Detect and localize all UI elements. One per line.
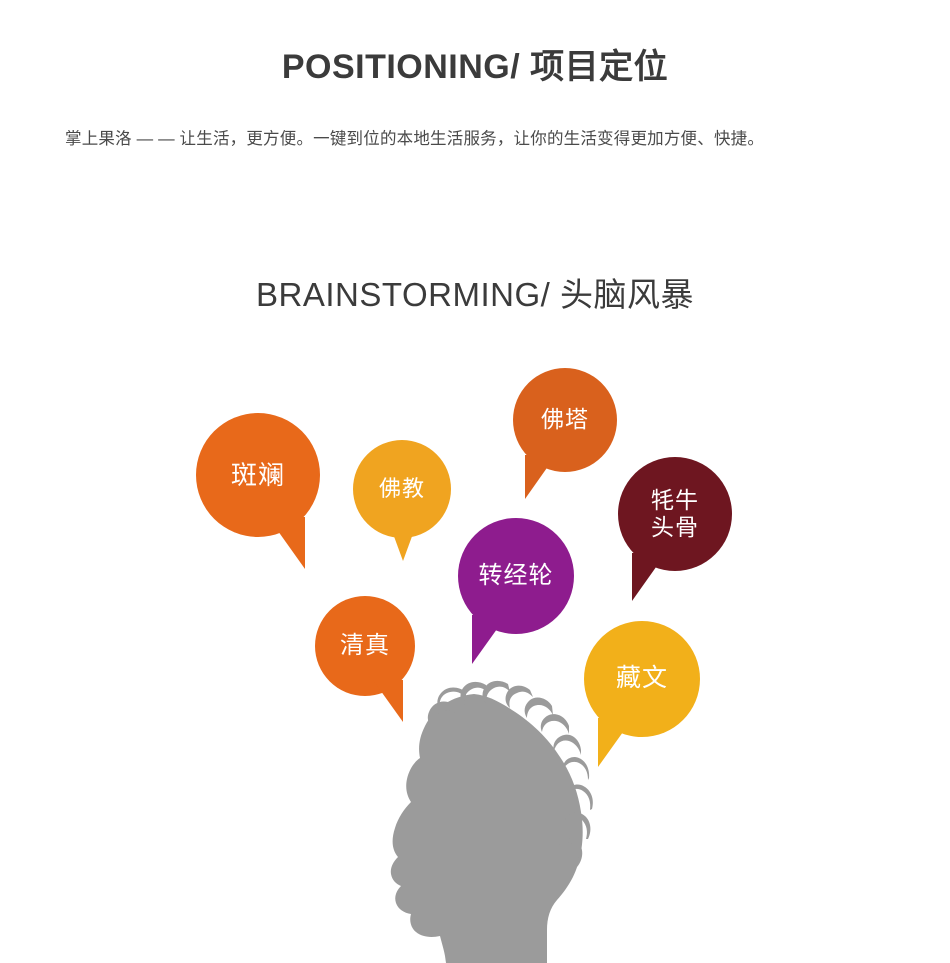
page-root: POSITIONING/ 项目定位 掌上果洛 — — 让生活，更方便。一键到位的… bbox=[0, 0, 950, 960]
speech-bubble-banlan[interactable]: 斑斓 bbox=[196, 413, 320, 537]
speech-bubble-label: 清真 bbox=[340, 632, 390, 660]
speech-bubble-qingzhen[interactable]: 清真 bbox=[315, 596, 415, 696]
speech-bubble-label: 转经轮 bbox=[479, 562, 554, 590]
speech-bubble-tail-icon bbox=[373, 680, 403, 722]
speech-bubble-tail-icon bbox=[525, 455, 556, 499]
positioning-body-text: 掌上果洛 — — 让生活，更方便。一键到位的本地生活服务，让你的生活变得更加方便… bbox=[65, 121, 887, 158]
brainstorm-canvas: 斑斓佛教佛塔牦牛 头骨转经轮清真藏文 bbox=[0, 330, 950, 960]
head-silhouette bbox=[378, 678, 598, 963]
speech-bubble-tail-icon bbox=[472, 615, 507, 664]
speech-bubble-zhuanjinglun[interactable]: 转经轮 bbox=[458, 518, 574, 634]
speech-bubble-label: 藏文 bbox=[616, 664, 668, 694]
speech-bubble-zangwen[interactable]: 藏文 bbox=[584, 621, 700, 737]
speech-bubble-tail-icon bbox=[598, 718, 633, 767]
speech-bubble-label: 佛教 bbox=[379, 476, 425, 502]
speech-bubble-fojiao[interactable]: 佛教 bbox=[353, 440, 451, 538]
brainstorming-heading: BRAINSTORMING/ 头脑风暴 bbox=[0, 268, 950, 316]
speech-bubble-label: 牦牛 头骨 bbox=[651, 487, 699, 541]
speech-bubble-tail-icon bbox=[632, 553, 666, 601]
speech-bubble-tail-icon bbox=[268, 517, 305, 569]
speech-bubble-tail-icon bbox=[388, 520, 418, 561]
speech-bubble-futa[interactable]: 佛塔 bbox=[513, 368, 617, 472]
speech-bubble-label: 佛塔 bbox=[541, 406, 589, 433]
speech-bubble-maoniutougu[interactable]: 牦牛 头骨 bbox=[618, 457, 732, 571]
speech-bubble-label: 斑斓 bbox=[231, 460, 285, 491]
positioning-heading: POSITIONING/ 项目定位 bbox=[0, 39, 950, 88]
